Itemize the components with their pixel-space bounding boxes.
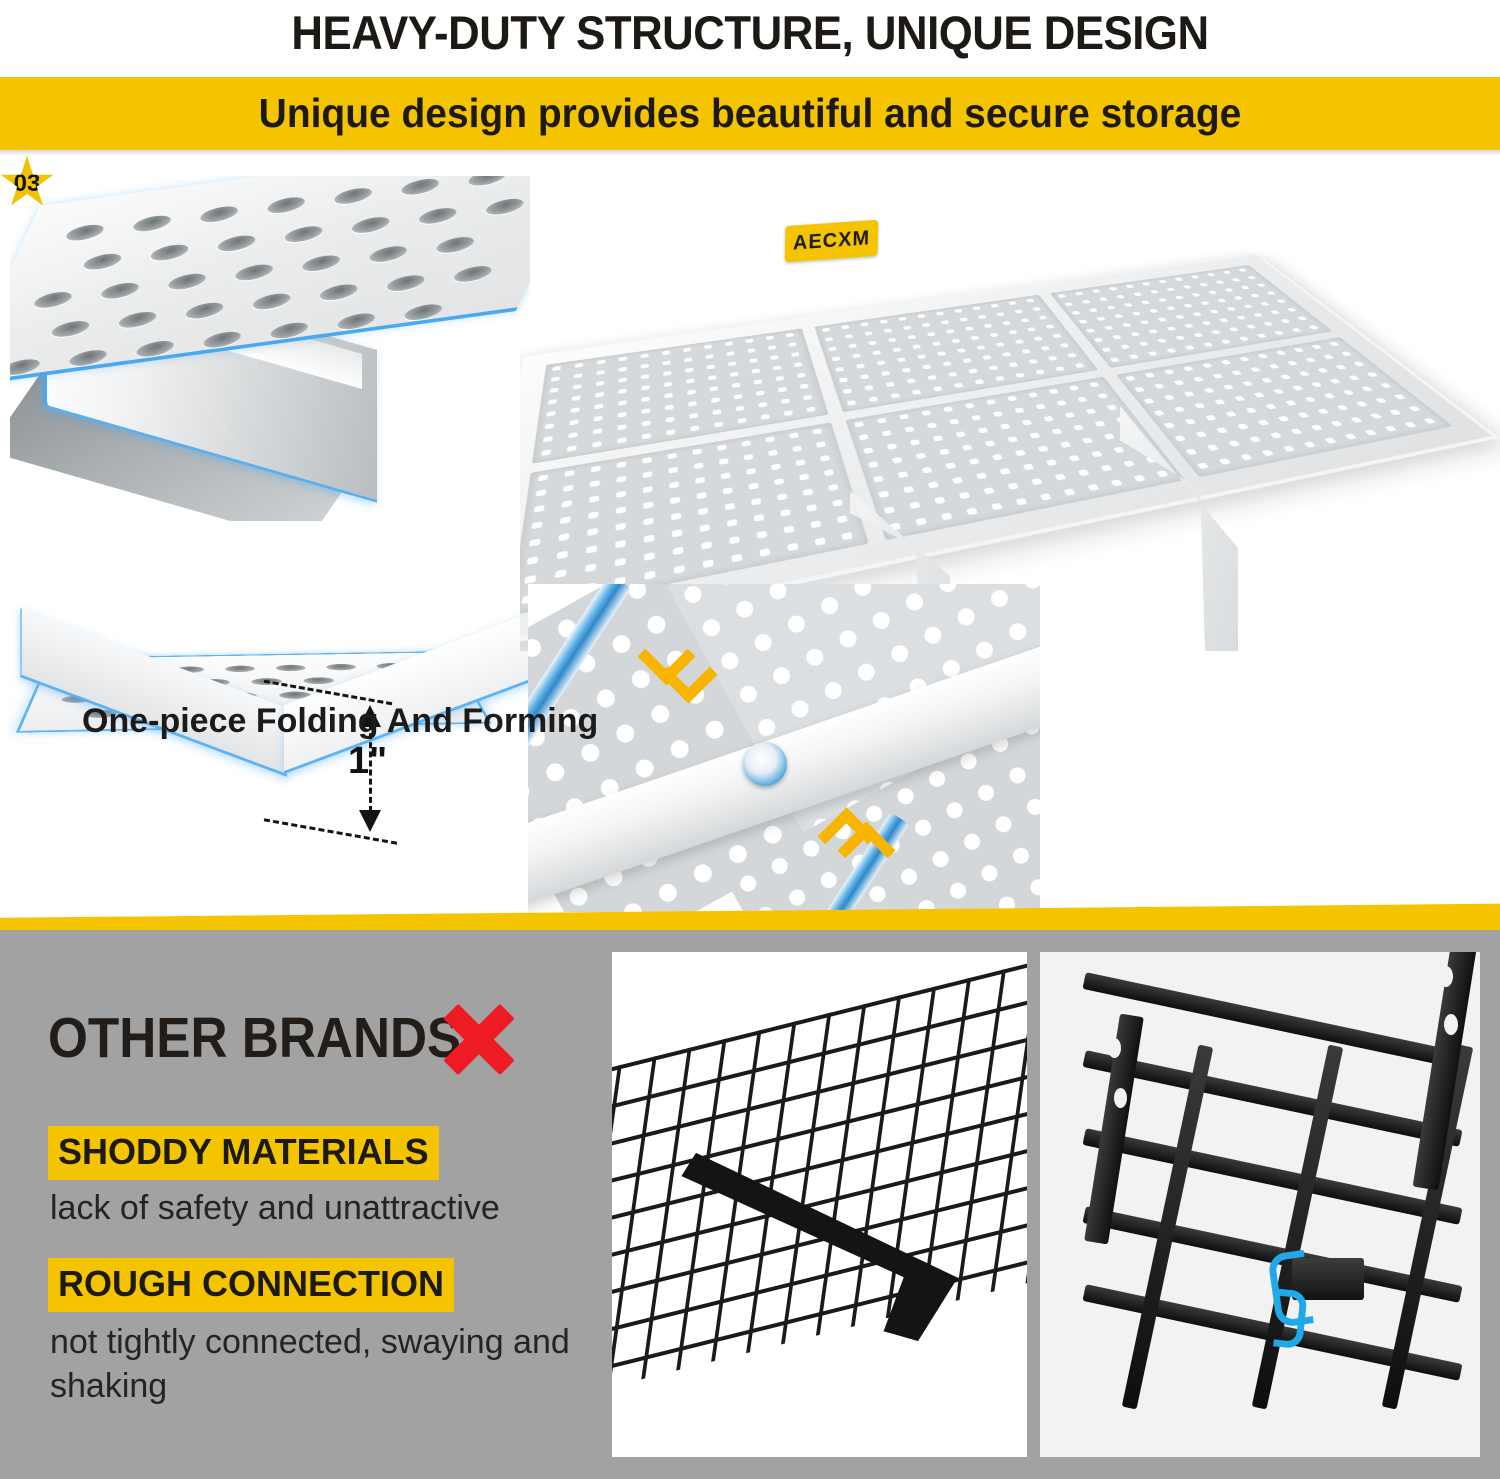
brand-badge: AECXM (785, 220, 878, 263)
bolt-fastener (743, 742, 787, 786)
infographic-page: HEAVY-DUTY STRUCTURE, UNIQUE DESIGN Uniq… (0, 0, 1500, 1479)
header-subtitle-band: Unique design provides beautiful and sec… (0, 77, 1500, 150)
comparison-detail-1: lack of safety and unattractive (50, 1186, 590, 1230)
feature-label-01: One-piece Folding And Forming (82, 702, 598, 741)
comparison-highlight-1: SHODDY MATERIALS (48, 1126, 439, 1180)
perforated-panel-grid (520, 265, 1453, 616)
photo-slide-rail (528, 584, 1040, 912)
x-mark-icon (437, 997, 521, 1081)
feature-number: 03 (14, 170, 41, 198)
photo-folded-channel (10, 176, 530, 521)
comparison-detail-2: not tightly connected, swaying and shaki… (50, 1320, 595, 1408)
comparison-title: OTHER BRANDS (48, 1005, 461, 1071)
header-subtitle: Unique design provides beautiful and sec… (38, 77, 1463, 150)
dimension-arrow-down-icon (359, 810, 381, 832)
photo-competitor-tube-rack (1040, 952, 1480, 1457)
features-section: 1" AECXM (0, 156, 1500, 918)
comparison-highlight-2: ROUGH CONNECTION (48, 1258, 454, 1312)
wire-mesh (612, 952, 1027, 1405)
photo-main-shelf: AECXM (520, 161, 1500, 651)
photo-frame-corner: 1" (8, 592, 533, 892)
page-title: HEAVY-DUTY STRUCTURE, UNIQUE DESIGN (53, 2, 1448, 64)
dimension-label: 1" (348, 740, 387, 783)
photo-competitor-mesh-rack (612, 952, 1027, 1457)
comparison-section: OTHER BRANDS SHODDY MATERIALS lack of sa… (0, 930, 1500, 1479)
